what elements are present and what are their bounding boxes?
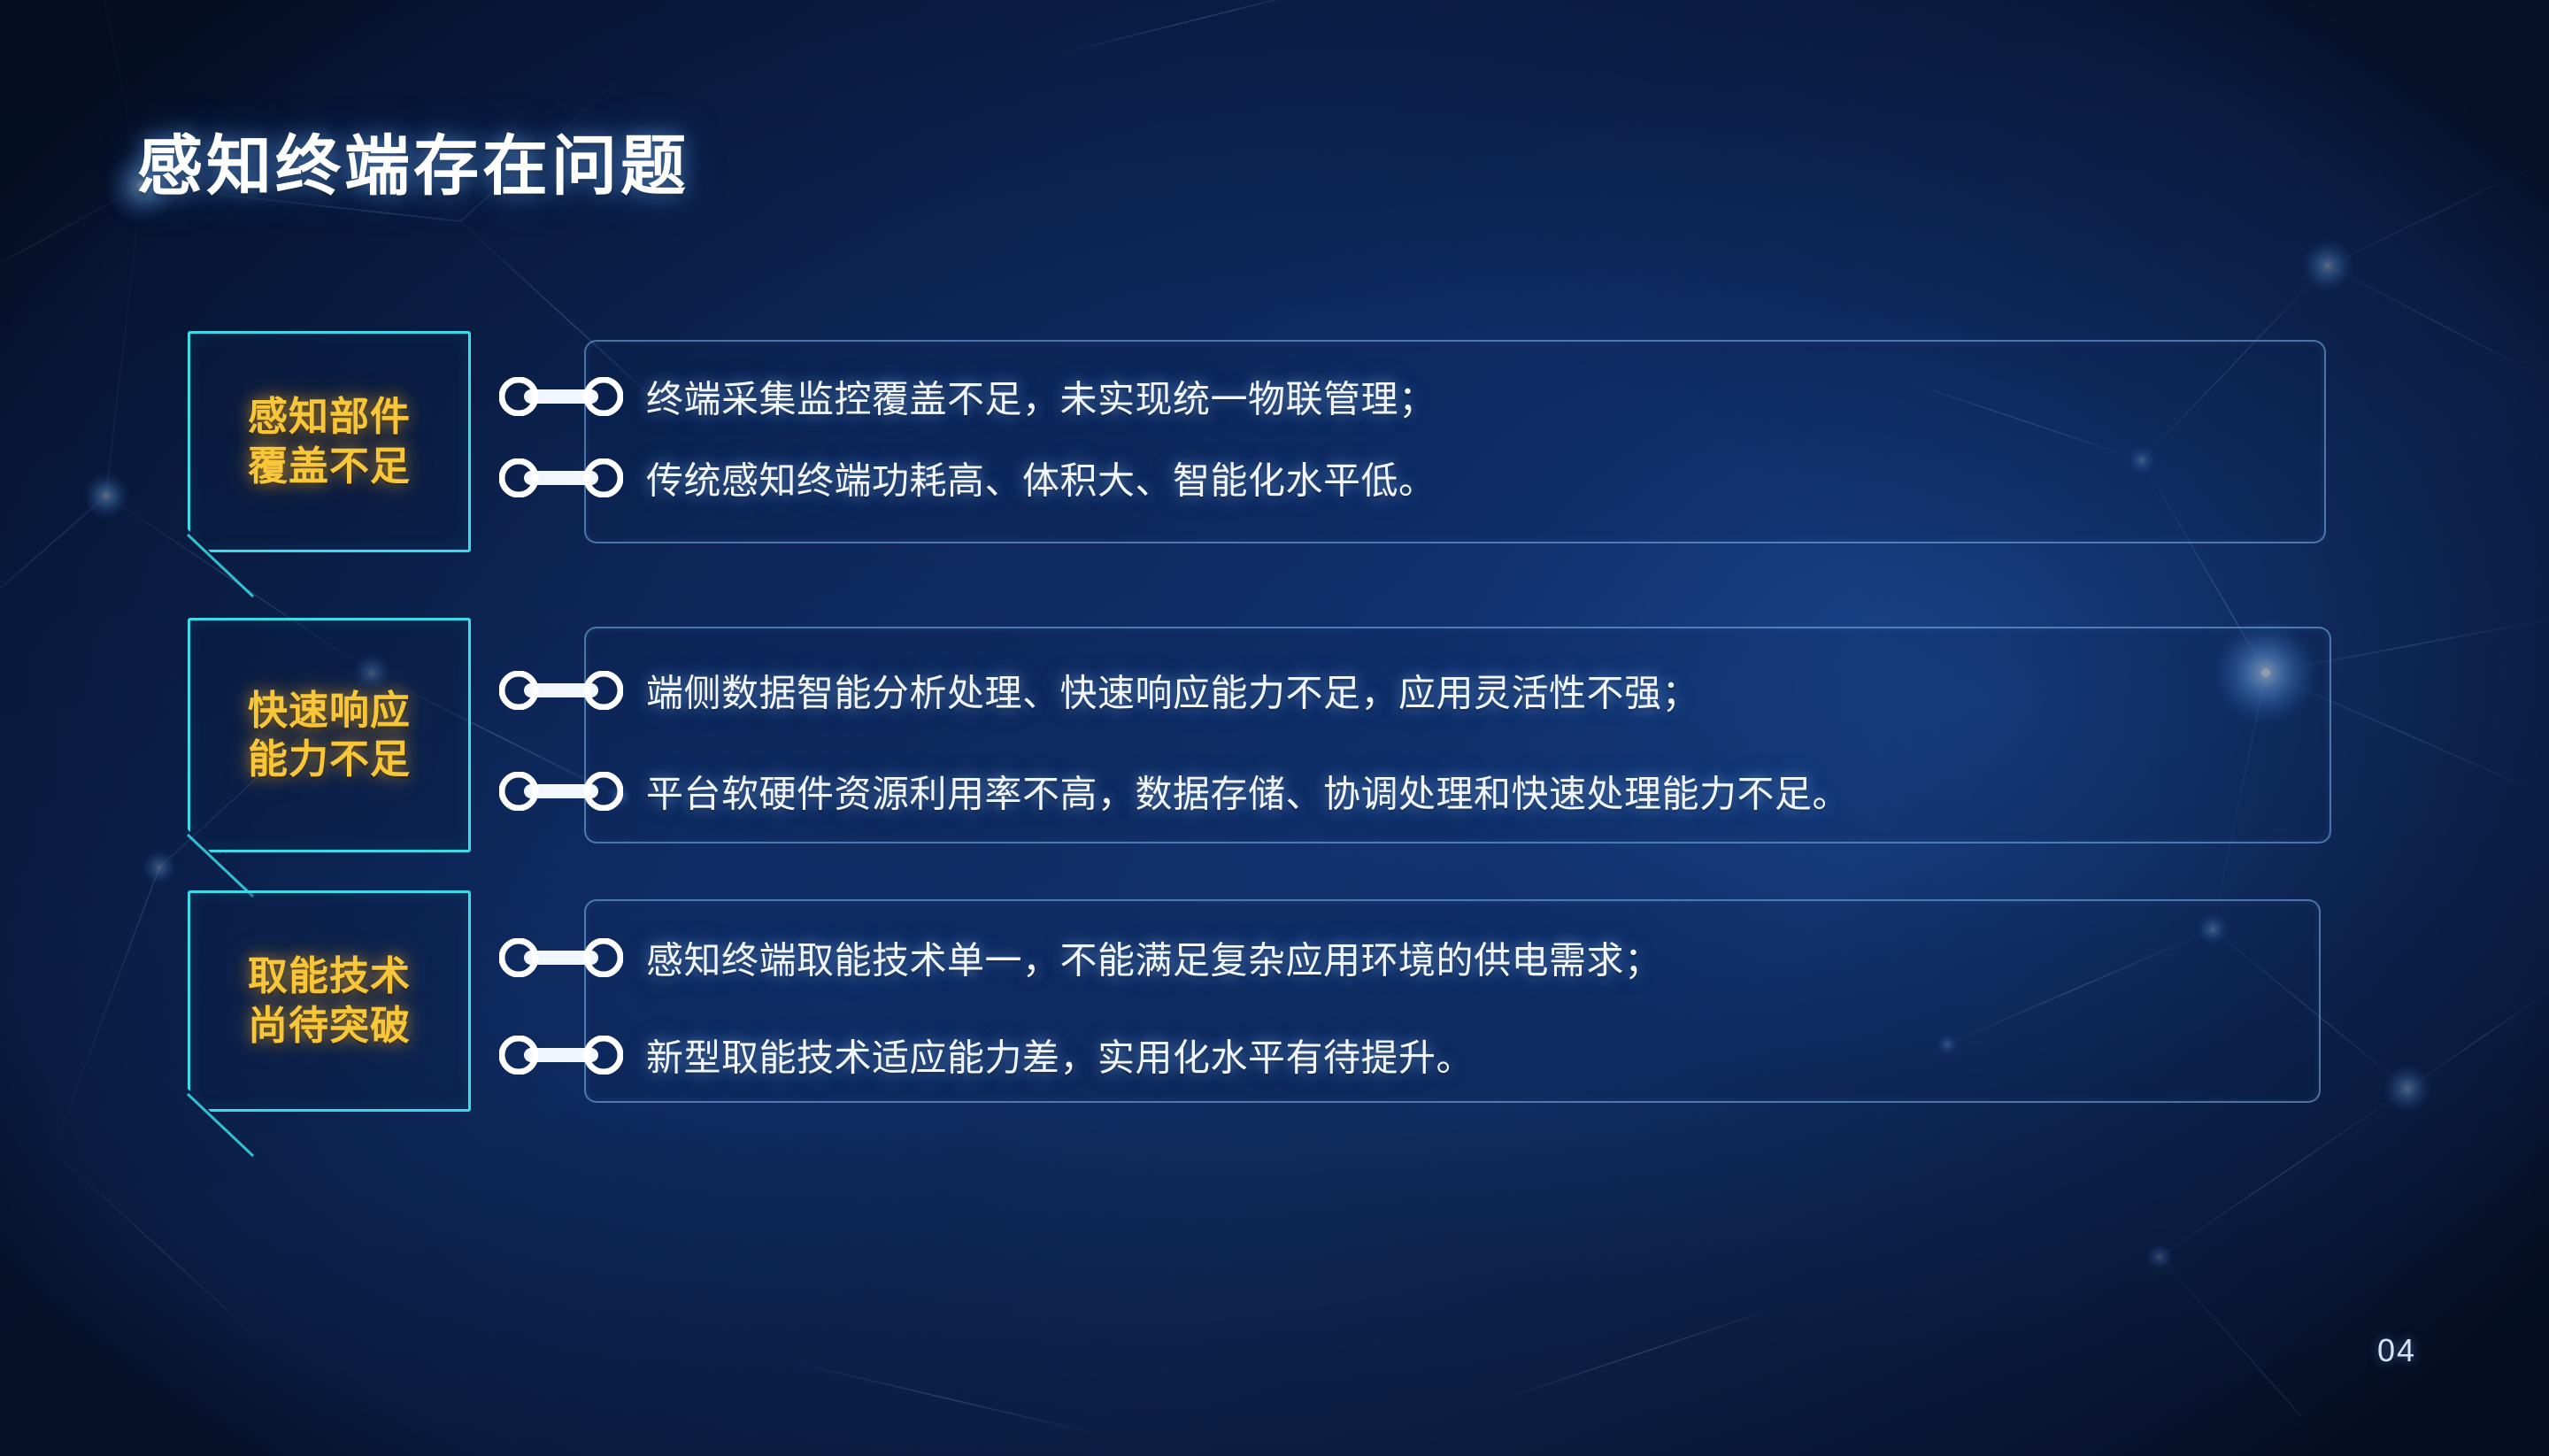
page-title: 感知终端存在问题 <box>137 113 689 208</box>
card-1-bullet-2-text: 传统感知终端功耗高、体积大、智能化水平低。 <box>646 451 1436 505</box>
problem-card-1: 感知部件 覆盖不足 终端采集监控覆盖不足，未实现统一物联管理； 传统感知终端功耗… <box>0 331 2549 552</box>
card-2-bullet-list: 端侧数据智能分析处理、快速响应能力不足，应用灵活性不强； 平台软硬件资源利用率不… <box>0 618 2549 852</box>
problem-card-2: 快速响应 能力不足 端侧数据智能分析处理、快速响应能力不足，应用灵活性不强； 平… <box>0 618 2549 852</box>
card-3-bullet-1-text: 感知终端取能技术单一，不能满足复杂应用环境的供电需求； <box>646 931 1662 985</box>
dumbbell-bullet-icon <box>499 772 623 811</box>
dumbbell-bullet-icon <box>499 938 623 977</box>
problem-card-3: 取能技术 尚待突破 感知终端取能技术单一，不能满足复杂应用环境的供电需求； 新型… <box>0 890 2549 1112</box>
page-number: 04 <box>2377 1332 2416 1369</box>
slide-canvas: 感知终端存在问题 感知部件 覆盖不足 终端采集监控覆盖不足，未实现统一物联管理； <box>0 0 2549 1456</box>
dumbbell-bullet-icon <box>499 458 623 497</box>
dumbbell-bullet-icon <box>499 671 623 710</box>
card-2-bullet-2-text: 平台软硬件资源利用率不高，数据存储、协调处理和快速处理能力不足。 <box>646 765 1850 819</box>
card-3-bullet-2-text: 新型取能技术适应能力差，实用化水平有待提升。 <box>646 1028 1474 1082</box>
card-2-bullet-1-text: 端侧数据智能分析处理、快速响应能力不足，应用灵活性不强； <box>646 664 1699 718</box>
card-1-bullet-list: 终端采集监控覆盖不足，未实现统一物联管理； 传统感知终端功耗高、体积大、智能化水… <box>0 331 2549 552</box>
dumbbell-bullet-icon <box>499 1036 623 1075</box>
card-1-bullet-1-text: 终端采集监控覆盖不足，未实现统一物联管理； <box>646 370 1436 424</box>
card-3-bullet-list: 感知终端取能技术单一，不能满足复杂应用环境的供电需求； 新型取能技术适应能力差，… <box>0 890 2549 1112</box>
dumbbell-bullet-icon <box>499 377 623 416</box>
